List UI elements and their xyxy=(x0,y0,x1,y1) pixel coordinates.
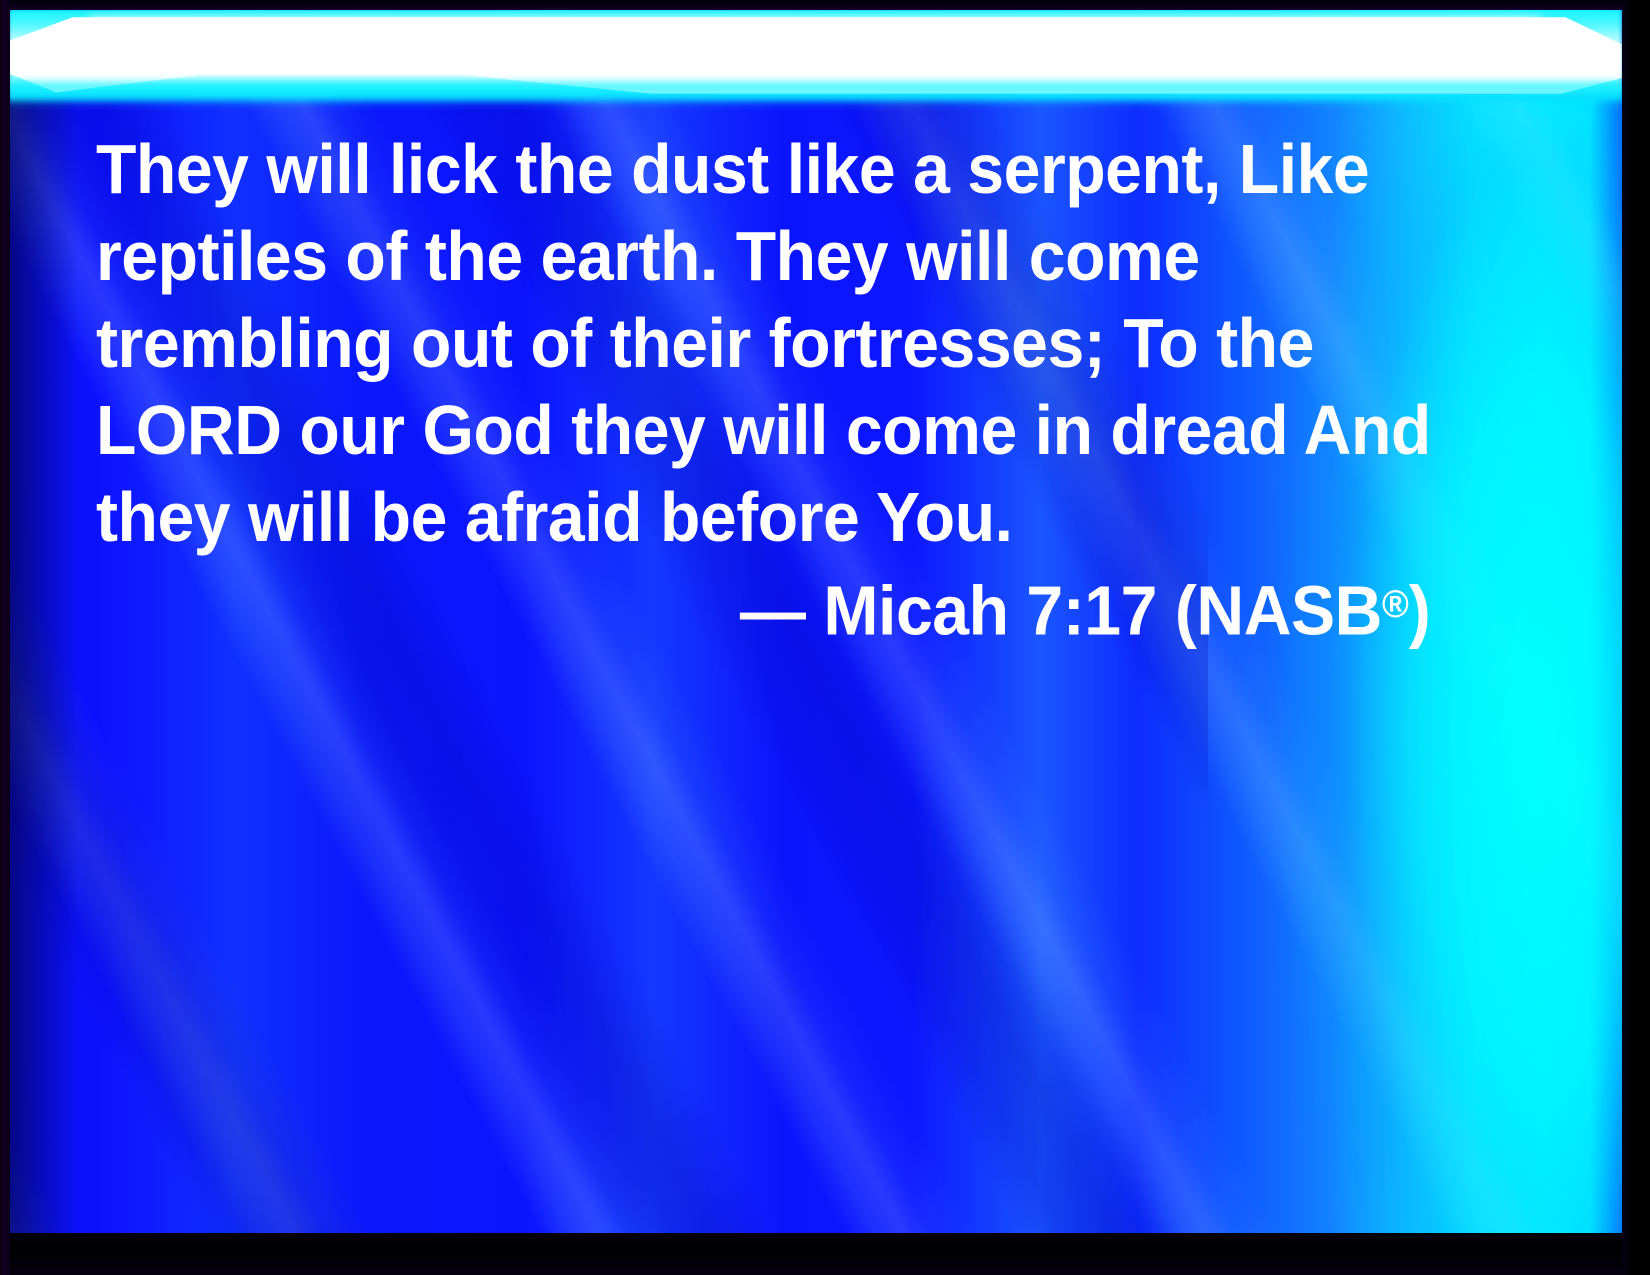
reference-citation: Micah 7:17 xyxy=(823,571,1157,649)
reference-open-paren: ( xyxy=(1175,571,1197,649)
verse-slide: They will lick the dust like a serpent, … xyxy=(0,0,1650,1275)
registered-trademark-icon: ® xyxy=(1382,583,1409,626)
reference-translation: NASB xyxy=(1196,571,1382,649)
frame-border-left xyxy=(0,0,10,1275)
verse-block: They will lick the dust like a serpent, … xyxy=(96,126,1438,654)
banner-white-core xyxy=(89,18,1542,78)
top-glow-banner xyxy=(8,8,1622,104)
reference-dash: — xyxy=(740,571,806,649)
banner-lower-glow xyxy=(8,82,1622,108)
verse-text: They will lick the dust like a serpent, … xyxy=(96,126,1438,561)
frame-border-bottom xyxy=(0,1233,1650,1275)
frame-border-top xyxy=(0,0,1650,10)
reference-close-paren: ) xyxy=(1409,571,1431,649)
background-left-shadow xyxy=(8,8,78,1233)
slide-canvas: They will lick the dust like a serpent, … xyxy=(8,8,1622,1233)
frame-border-right xyxy=(1622,0,1650,1275)
verse-reference: — Micah 7:17 (NASB®) xyxy=(96,561,1438,654)
